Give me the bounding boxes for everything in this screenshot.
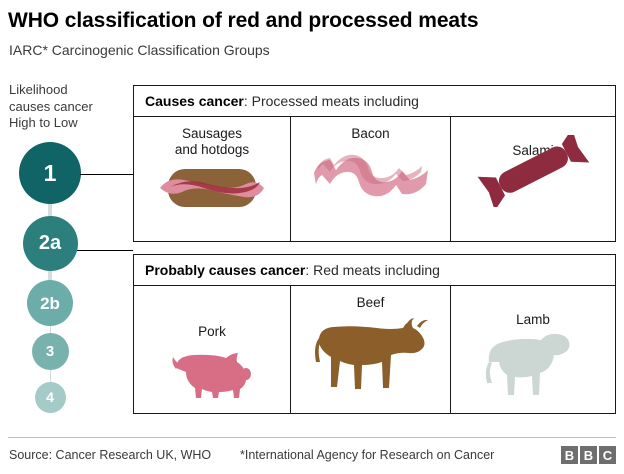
pig-art bbox=[134, 346, 290, 402]
meat-label: Beef bbox=[291, 295, 450, 311]
hotdog-icon bbox=[156, 165, 268, 211]
scale-circle-label: 2b bbox=[40, 295, 60, 312]
bbc-logo-letter: B bbox=[561, 446, 578, 464]
iarc-footnote: *International Agency for Research on Ca… bbox=[240, 448, 494, 462]
bbc-logo-letter: B bbox=[580, 446, 597, 464]
panel-header-bold: Causes cancer bbox=[145, 93, 244, 109]
scale-link-3-4 bbox=[50, 369, 51, 383]
cow-art bbox=[291, 312, 450, 394]
meat-label: Bacon bbox=[291, 126, 450, 142]
connector-line-group1 bbox=[80, 174, 133, 175]
bacon-icon bbox=[312, 147, 430, 203]
meat-cell-beef[interactable]: Beef bbox=[291, 286, 451, 413]
meat-cell-pork[interactable]: Pork bbox=[134, 286, 291, 413]
panel-body: Sausages and hotdogs Bacon Salami bbox=[134, 117, 615, 241]
bbc-logo: BBC bbox=[561, 446, 616, 464]
scale-circle-1[interactable]: 1 bbox=[19, 142, 81, 204]
scale-circle-2a[interactable]: 2a bbox=[23, 216, 78, 271]
scale-circle-label: 3 bbox=[46, 344, 54, 359]
panel-header-rest: : Processed meats including bbox=[244, 93, 419, 109]
salami-art bbox=[451, 135, 615, 207]
scale-circle-label: 2a bbox=[39, 233, 61, 253]
bacon-art bbox=[291, 147, 450, 203]
pig-icon bbox=[164, 346, 260, 402]
scale-circle-label: 1 bbox=[44, 162, 57, 185]
meat-label: Lamb bbox=[451, 312, 615, 328]
hotdog-art bbox=[134, 165, 290, 211]
scale-circle-label: 4 bbox=[46, 390, 54, 404]
meat-cell-bacon[interactable]: Bacon bbox=[291, 117, 451, 241]
meat-label: Sausages and hotdogs bbox=[134, 126, 290, 158]
panel-header-bold: Probably causes cancer bbox=[145, 262, 305, 278]
infographic-root: WHO classification of red and processed … bbox=[0, 0, 624, 474]
panel-header: Probably causes cancer: Red meats includ… bbox=[134, 255, 615, 286]
cow-icon bbox=[305, 312, 437, 394]
panel-header-rest: : Red meats including bbox=[305, 262, 440, 278]
meat-cell-lamb[interactable]: Lamb bbox=[451, 286, 615, 413]
panel-causes-cancer: Causes cancer: Processed meats including… bbox=[133, 85, 616, 242]
sheep-icon bbox=[479, 330, 587, 400]
panel-probably-causes-cancer: Probably causes cancer: Red meats includ… bbox=[133, 254, 616, 414]
scale-circle-2b[interactable]: 2b bbox=[27, 280, 73, 326]
scale-circle-3[interactable]: 3 bbox=[32, 333, 69, 370]
panel-header: Causes cancer: Processed meats including bbox=[134, 86, 615, 117]
salami-icon bbox=[473, 135, 593, 207]
sheep-art bbox=[451, 330, 615, 400]
source-text: Source: Cancer Research UK, WHO bbox=[9, 448, 211, 462]
meat-cell-sausages-and-hotdogs[interactable]: Sausages and hotdogs bbox=[134, 117, 291, 241]
footer-divider bbox=[8, 437, 616, 438]
classification-scale: 12a2b34 bbox=[0, 0, 130, 474]
panel-body: Pork Beef Lamb bbox=[134, 286, 615, 413]
connector-line-group2a bbox=[77, 250, 133, 251]
bbc-logo-letter: C bbox=[599, 446, 616, 464]
scale-circle-4[interactable]: 4 bbox=[35, 382, 66, 413]
meat-label: Pork bbox=[134, 324, 290, 340]
scale-link-1-2a bbox=[48, 203, 52, 217]
meat-cell-salami[interactable]: Salami bbox=[451, 117, 615, 241]
